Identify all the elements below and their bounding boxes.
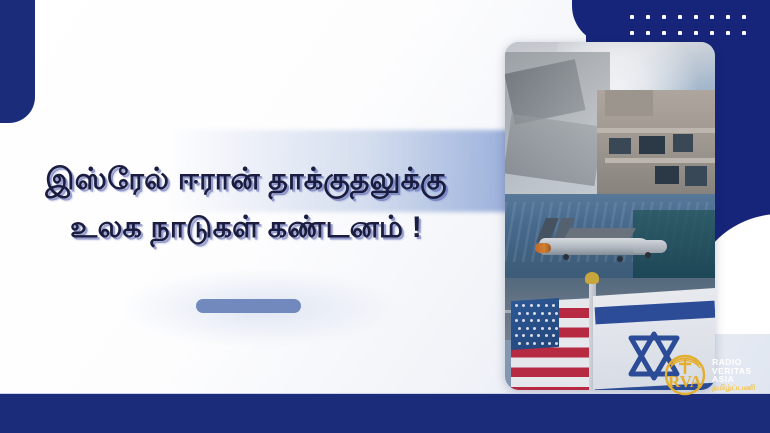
page-title: இஸ்ரேல் ஈரான் தாக்குதலுக்கு உலக நாடுகள் … [0,158,492,254]
headline-line-2: உலக நாடுகள் கண்டனம் ! [0,202,492,254]
navy-left-bar [0,0,35,123]
headline-line-1: இஸ்ரேல் ஈரான் தாக்குதலுக்கு [0,158,492,202]
rva-monogram-icon: RVA [664,354,706,396]
brand-logo[interactable]: RVA RADIO VERITAS ASIA தமிழ்ப்பணி [664,352,770,398]
accent-pill [196,299,301,313]
svg-text:RVA: RVA [668,372,703,391]
navy-bottom-bar [0,394,770,433]
photo-color-tint [505,42,715,390]
brand-tamil-tagline: தமிழ்ப்பணி [712,384,755,392]
news-graphic-canvas: இஸ்ரேல் ஈரான் தாக்குதலுக்கு உலக நாடுகள் … [0,0,770,433]
news-photo [505,42,715,390]
brand-text: RADIO VERITAS ASIA தமிழ்ப்பணி [712,358,755,392]
